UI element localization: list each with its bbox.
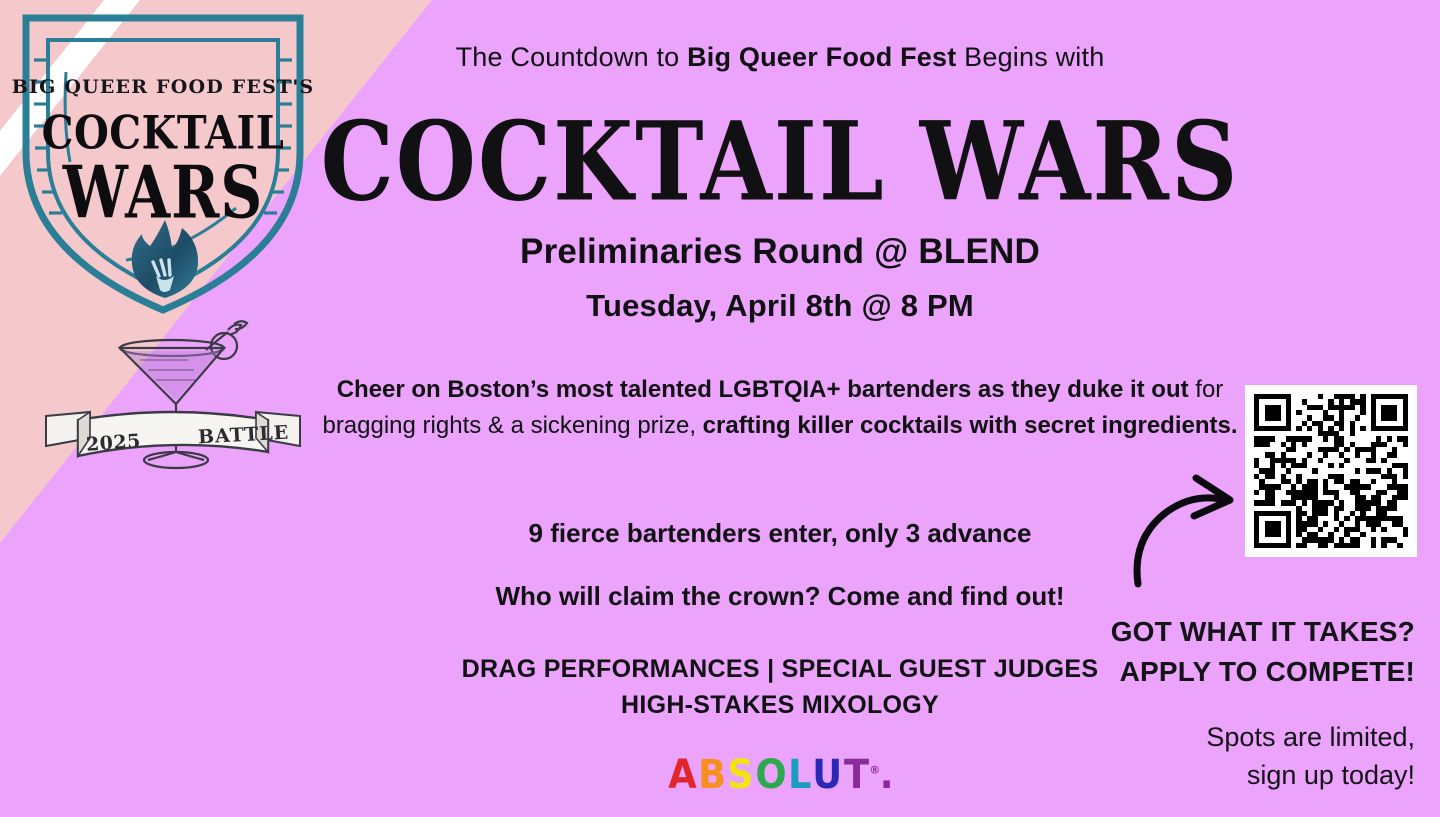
poster-canvas: BIG QUEER FOOD FEST'S COCKTAIL WARS bbox=[0, 0, 1440, 817]
cta-sub-2: sign up today! bbox=[1045, 756, 1415, 794]
qr-code-modules bbox=[1254, 394, 1408, 548]
flame-fork-icon bbox=[120, 214, 210, 304]
cta-sub-1: Spots are limited, bbox=[1045, 718, 1415, 756]
curved-arrow-icon bbox=[1130, 470, 1250, 590]
cta-column: GOT WHAT IT TAKES? APPLY TO COMPETE! Spo… bbox=[1020, 0, 1440, 817]
cta-headline-2: APPLY TO COMPETE! bbox=[1045, 652, 1415, 692]
qr-code[interactable] bbox=[1245, 385, 1417, 557]
cta-subtext: Spots are limited, sign up today! bbox=[1045, 718, 1415, 795]
cta-headline-1: GOT WHAT IT TAKES? bbox=[1045, 612, 1415, 652]
cta-headline: GOT WHAT IT TAKES? APPLY TO COMPETE! bbox=[1045, 612, 1415, 692]
kicker-brand: Big Queer Food Fest bbox=[687, 42, 956, 72]
kicker-before: The Countdown to bbox=[456, 42, 688, 72]
banner-year: 2025 bbox=[85, 430, 141, 456]
